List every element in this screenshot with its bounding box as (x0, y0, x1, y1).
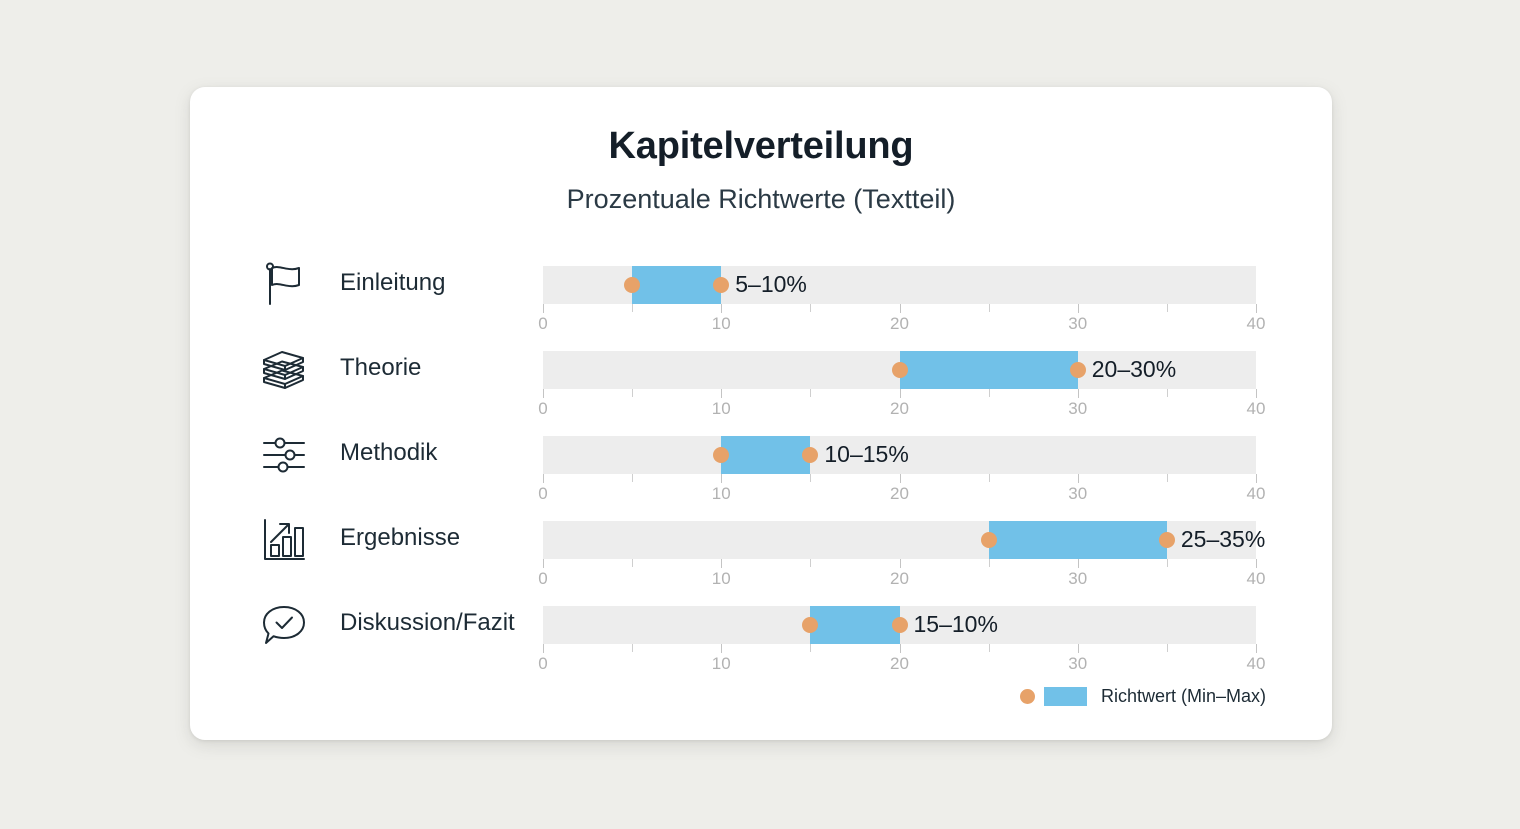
axis-tick-minor (632, 474, 633, 482)
axis-tick-label: 40 (1247, 569, 1266, 589)
axis-tick-major (1256, 559, 1257, 568)
category-label: Einleitung (340, 269, 445, 297)
range-value-label: 20–30% (1092, 356, 1176, 383)
axis-tick-major (900, 474, 901, 483)
max-marker (1070, 362, 1086, 378)
axis-tick-major (543, 644, 544, 653)
axis-tick-minor (810, 389, 811, 397)
axis-tick-major (900, 559, 901, 568)
range-bar (632, 266, 721, 304)
axis-tick-minor (632, 389, 633, 397)
axis-tick-label: 30 (1068, 314, 1087, 334)
axis-tick-label: 30 (1068, 399, 1087, 419)
chart-legend: Richtwert (Min–Max) (1020, 684, 1266, 708)
axis-tick-minor (810, 559, 811, 567)
axis-tick-major (721, 304, 722, 313)
axis-tick-label: 40 (1247, 314, 1266, 334)
legend-bar-swatch (1044, 687, 1087, 706)
axis-tick-minor (810, 644, 811, 652)
axis-tick-label: 0 (538, 399, 547, 419)
x-axis: 010203040 (543, 474, 1256, 502)
x-axis: 010203040 (543, 389, 1256, 417)
axis-tick-major (721, 474, 722, 483)
category-label: Ergebnisse (340, 524, 460, 552)
axis-tick-label: 20 (890, 654, 909, 674)
chart-row: Einleitung5–10%010203040 (190, 255, 1332, 333)
axis-tick-minor (1167, 389, 1168, 397)
axis-tick-label: 30 (1068, 484, 1087, 504)
category-label: Methodik (340, 439, 437, 467)
axis-tick-label: 0 (538, 654, 547, 674)
x-axis: 010203040 (543, 644, 1256, 672)
chart-row: Ergebnisse25–35%010203040 (190, 510, 1332, 588)
axis-tick-label: 30 (1068, 569, 1087, 589)
bar-chart-growth-icon (258, 514, 310, 566)
axis-tick-label: 10 (712, 569, 731, 589)
range-bar (900, 351, 1078, 389)
axis-tick-label: 20 (890, 484, 909, 504)
chart-row: Theorie20–30%010203040 (190, 340, 1332, 418)
axis-tick-major (721, 559, 722, 568)
axis-tick-minor (810, 474, 811, 482)
axis-tick-minor (989, 389, 990, 397)
range-bar (721, 436, 810, 474)
chart-row: Diskussion/Fazit15–10%010203040 (190, 595, 1332, 673)
axis-tick-label: 10 (712, 654, 731, 674)
axis-tick-major (1078, 389, 1079, 398)
axis-tick-major (543, 474, 544, 483)
range-bar (989, 521, 1167, 559)
max-marker (1159, 532, 1175, 548)
axis-tick-minor (989, 559, 990, 567)
axis-tick-major (1256, 474, 1257, 483)
axis-tick-major (721, 644, 722, 653)
axis-tick-major (1078, 559, 1079, 568)
axis-tick-major (900, 644, 901, 653)
range-value-label: 5–10% (735, 271, 807, 298)
axis-tick-minor (810, 304, 811, 312)
axis-tick-label: 10 (712, 399, 731, 419)
range-value-label: 15–10% (914, 611, 998, 638)
axis-tick-minor (632, 304, 633, 312)
axis-tick-major (543, 559, 544, 568)
axis-tick-label: 0 (538, 484, 547, 504)
axis-tick-label: 20 (890, 314, 909, 334)
axis-tick-major (1256, 644, 1257, 653)
axis-tick-minor (632, 644, 633, 652)
axis-tick-label: 0 (538, 314, 547, 334)
range-bar (810, 606, 899, 644)
axis-tick-label: 10 (712, 314, 731, 334)
axis-tick-major (1078, 474, 1079, 483)
axis-tick-minor (1167, 559, 1168, 567)
category-label: Theorie (340, 354, 421, 382)
legend-marker-icon (1020, 689, 1035, 704)
axis-tick-minor (1167, 304, 1168, 312)
axis-tick-major (543, 304, 544, 313)
axis-tick-minor (1167, 644, 1168, 652)
screenshot-stage: Kapitelverteilung Prozentuale Richtwerte… (0, 0, 1520, 829)
axis-tick-minor (1167, 474, 1168, 482)
legend-label: Richtwert (Min–Max) (1101, 686, 1266, 707)
range-value-label: 25–35% (1181, 526, 1265, 553)
axis-tick-major (543, 389, 544, 398)
axis-tick-major (1256, 389, 1257, 398)
axis-tick-major (1078, 304, 1079, 313)
axis-tick-label: 10 (712, 484, 731, 504)
chart-card: Kapitelverteilung Prozentuale Richtwerte… (190, 87, 1332, 740)
axis-tick-label: 40 (1247, 654, 1266, 674)
axis-tick-major (1078, 644, 1079, 653)
flag-icon (258, 259, 310, 311)
sliders-icon (258, 429, 310, 481)
axis-tick-minor (989, 644, 990, 652)
axis-tick-minor (632, 559, 633, 567)
axis-tick-minor (989, 474, 990, 482)
min-marker (624, 277, 640, 293)
axis-tick-label: 40 (1247, 484, 1266, 504)
axis-tick-major (1256, 304, 1257, 313)
max-marker (892, 617, 908, 633)
speech-bubble-check-icon (258, 599, 310, 651)
axis-tick-major (721, 389, 722, 398)
axis-tick-label: 0 (538, 569, 547, 589)
axis-tick-label: 20 (890, 399, 909, 419)
x-axis: 010203040 (543, 559, 1256, 587)
chart-row: Methodik10–15%010203040 (190, 425, 1332, 503)
min-marker (981, 532, 997, 548)
chart-rows: Einleitung5–10%010203040Theorie20–30%010… (190, 87, 1332, 740)
range-value-label: 10–15% (824, 441, 908, 468)
axis-tick-minor (989, 304, 990, 312)
axis-tick-label: 20 (890, 569, 909, 589)
min-marker (892, 362, 908, 378)
axis-tick-major (900, 304, 901, 313)
x-axis: 010203040 (543, 304, 1256, 332)
axis-tick-label: 30 (1068, 654, 1087, 674)
books-stack-icon (258, 344, 310, 396)
axis-tick-label: 40 (1247, 399, 1266, 419)
axis-tick-major (900, 389, 901, 398)
category-label: Diskussion/Fazit (340, 609, 515, 637)
